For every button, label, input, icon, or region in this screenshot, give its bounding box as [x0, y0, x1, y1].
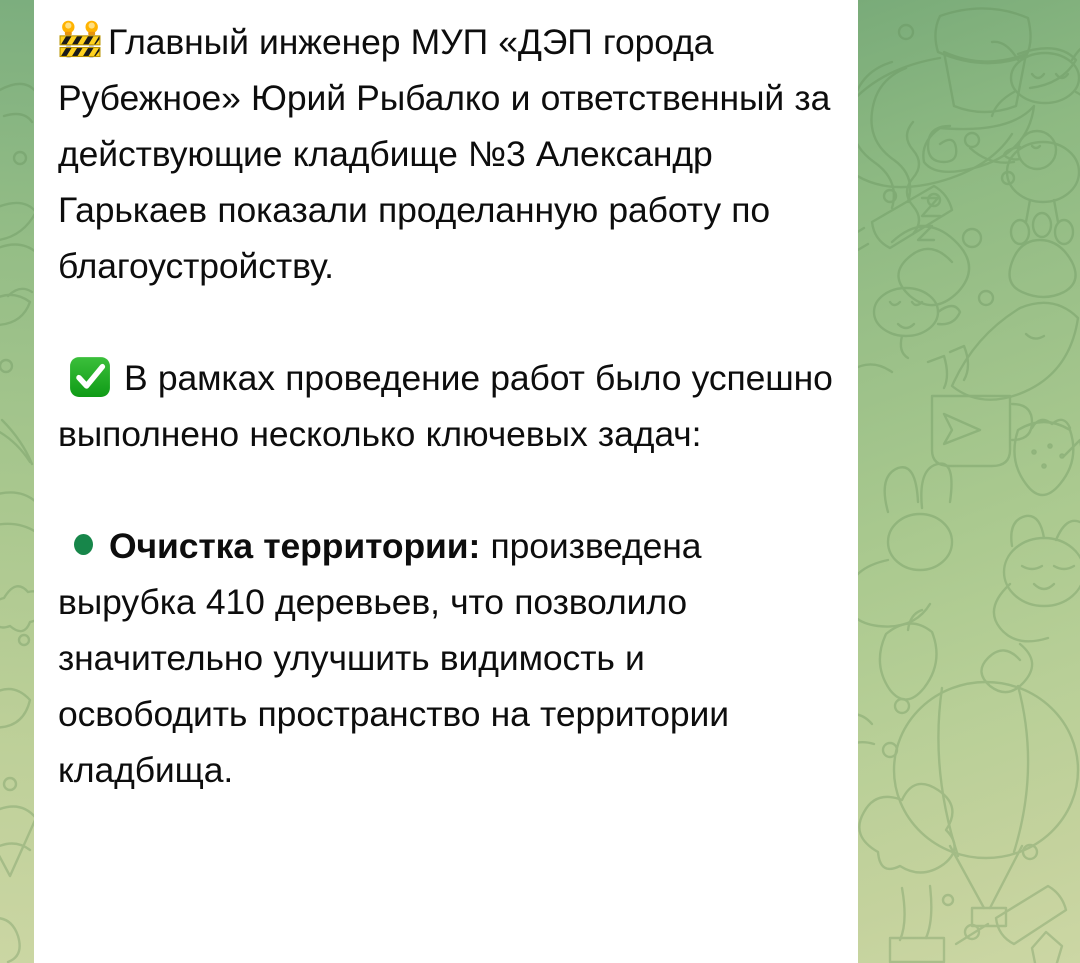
message-paragraph-2: В рамках проведение работ было успешно в… [58, 350, 836, 462]
message-text-body: Главный инженер МУП «ДЭП города Рубежное… [58, 14, 836, 798]
green-bullet-icon [74, 534, 93, 555]
message-paragraph-1-text: Главный инженер МУП «ДЭП города Рубежное… [58, 22, 830, 286]
message-paragraph-2-text: В рамках проведение работ было успешно в… [58, 358, 833, 454]
construction-sign-icon [58, 18, 102, 62]
message-paragraph-3-lead: Очистка территории: [109, 526, 480, 566]
white-check-mark-icon [68, 355, 112, 399]
message-paragraph-3: Очистка территории: произведена вырубка … [58, 518, 836, 798]
message-bubble: Главный инженер МУП «ДЭП города Рубежное… [34, 0, 858, 963]
chat-wallpaper-right-strip [858, 0, 1080, 963]
message-paragraph-1: Главный инженер МУП «ДЭП города Рубежное… [58, 14, 836, 294]
telegram-message-screen: Главный инженер МУП «ДЭП города Рубежное… [0, 0, 1080, 963]
chat-wallpaper-left-strip [0, 0, 34, 963]
